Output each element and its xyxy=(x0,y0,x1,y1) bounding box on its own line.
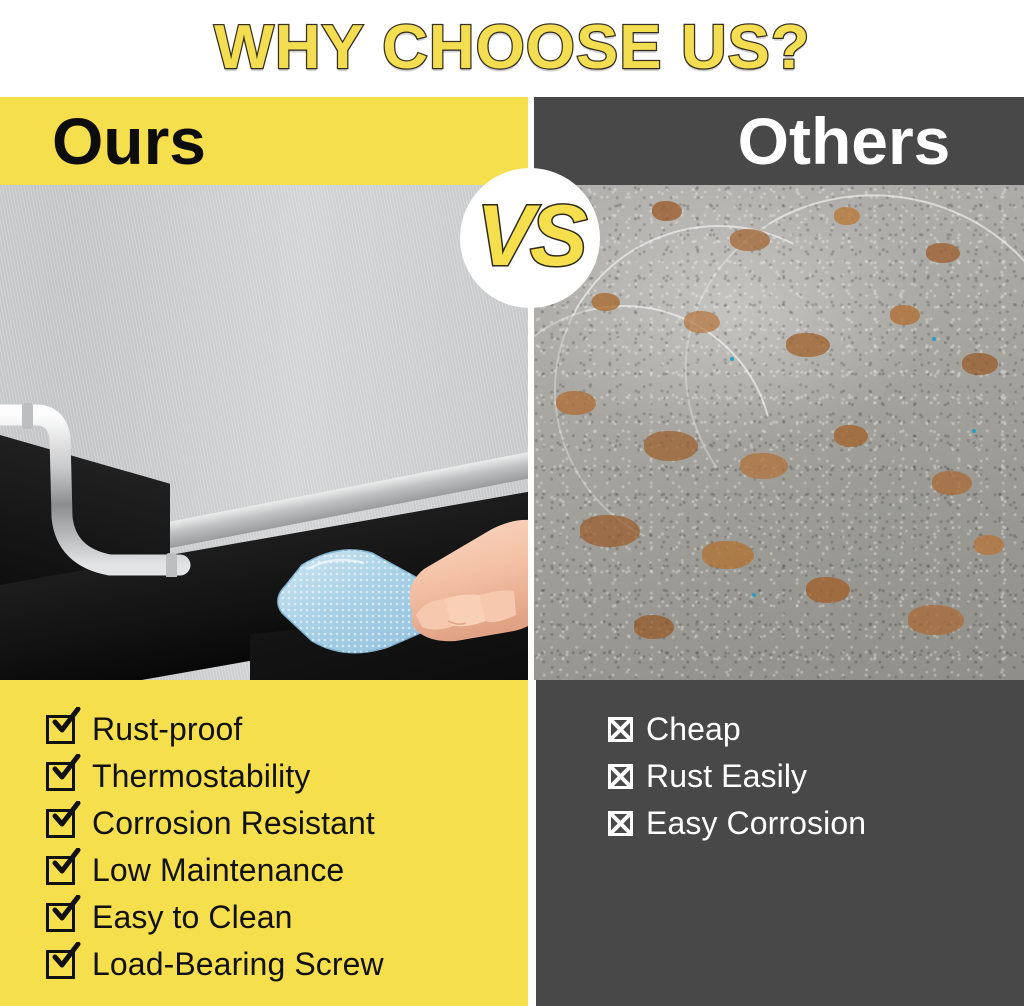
rust-spot xyxy=(834,207,860,225)
rust-spot xyxy=(806,577,850,603)
rust-spot xyxy=(834,425,868,447)
checkbox-checked-icon xyxy=(46,856,75,885)
checkbox-crossed-icon xyxy=(608,717,633,742)
rust-spot xyxy=(702,541,754,569)
photo-rusty-surface xyxy=(534,185,1024,680)
checkbox-checked-icon xyxy=(46,903,75,932)
feature-list-ours: Rust-proof Thermostability Corrosion Res… xyxy=(0,680,528,1006)
list-item: Rust-proof xyxy=(46,706,528,753)
rust-spot xyxy=(962,353,998,375)
checkbox-checked-icon xyxy=(46,950,75,979)
feature-label: Corrosion Resistant xyxy=(92,805,375,842)
rust-spot xyxy=(684,311,720,333)
rust-spot xyxy=(890,305,920,325)
page-title: WHY CHOOSE US? xyxy=(214,0,810,96)
list-item: Thermostability xyxy=(46,753,528,800)
bottom-divider xyxy=(528,680,536,1006)
checkbox-crossed-icon xyxy=(608,764,633,789)
feature-list-others: Cheap Rust Easily Easy Corrosion xyxy=(536,680,1024,1006)
header-others: Others xyxy=(534,97,1024,185)
cart-handle-icon xyxy=(0,397,220,577)
list-item: Easy to Clean xyxy=(46,894,528,941)
vs-label: VS xyxy=(477,193,584,279)
header-ours: Ours xyxy=(0,97,528,185)
list-item: Low Maintenance xyxy=(46,847,528,894)
hand-icon xyxy=(352,515,528,665)
rust-spot xyxy=(786,333,830,357)
list-item: Rust Easily xyxy=(608,753,1024,800)
drawback-label: Easy Corrosion xyxy=(646,805,866,842)
rust-spot xyxy=(580,515,640,547)
list-item: Corrosion Resistant xyxy=(46,800,528,847)
checkbox-crossed-icon xyxy=(608,811,633,836)
drawback-label: Cheap xyxy=(646,711,741,748)
rust-spot xyxy=(740,453,788,479)
photo-stainless-steel-cart: Wipe Clean xyxy=(0,185,528,680)
rust-spot xyxy=(730,229,770,251)
feature-label: Easy to Clean xyxy=(92,899,293,936)
rust-spot xyxy=(634,615,674,639)
list-item: Load-Bearing Screw xyxy=(46,941,528,988)
drawback-label: Rust Easily xyxy=(646,758,807,795)
header-ours-label: Ours xyxy=(52,108,476,174)
list-item: Cheap xyxy=(608,706,1024,753)
list-item: Easy Corrosion xyxy=(608,800,1024,847)
blue-fleck xyxy=(730,357,734,361)
checkbox-checked-icon xyxy=(46,715,75,744)
blue-fleck xyxy=(972,429,976,433)
blue-fleck xyxy=(752,593,756,597)
feature-label: Load-Bearing Screw xyxy=(92,946,384,983)
rust-spot xyxy=(556,391,596,415)
rust-spot xyxy=(932,471,972,495)
rust-spot xyxy=(644,431,698,461)
blue-fleck xyxy=(932,337,936,341)
title-banner: WHY CHOOSE US? xyxy=(0,0,1024,96)
feature-label: Low Maintenance xyxy=(92,852,344,889)
header-others-label: Others xyxy=(608,108,951,174)
rust-spot xyxy=(974,535,1004,555)
rust-spot xyxy=(926,243,960,263)
checkbox-checked-icon xyxy=(46,809,75,838)
rust-spot xyxy=(908,605,964,635)
feature-label: Thermostability xyxy=(92,758,310,795)
checkbox-checked-icon xyxy=(46,762,75,791)
feature-label: Rust-proof xyxy=(92,711,242,748)
rust-spot xyxy=(592,293,620,311)
vs-badge: VS xyxy=(460,168,600,308)
rust-spot xyxy=(652,201,682,221)
